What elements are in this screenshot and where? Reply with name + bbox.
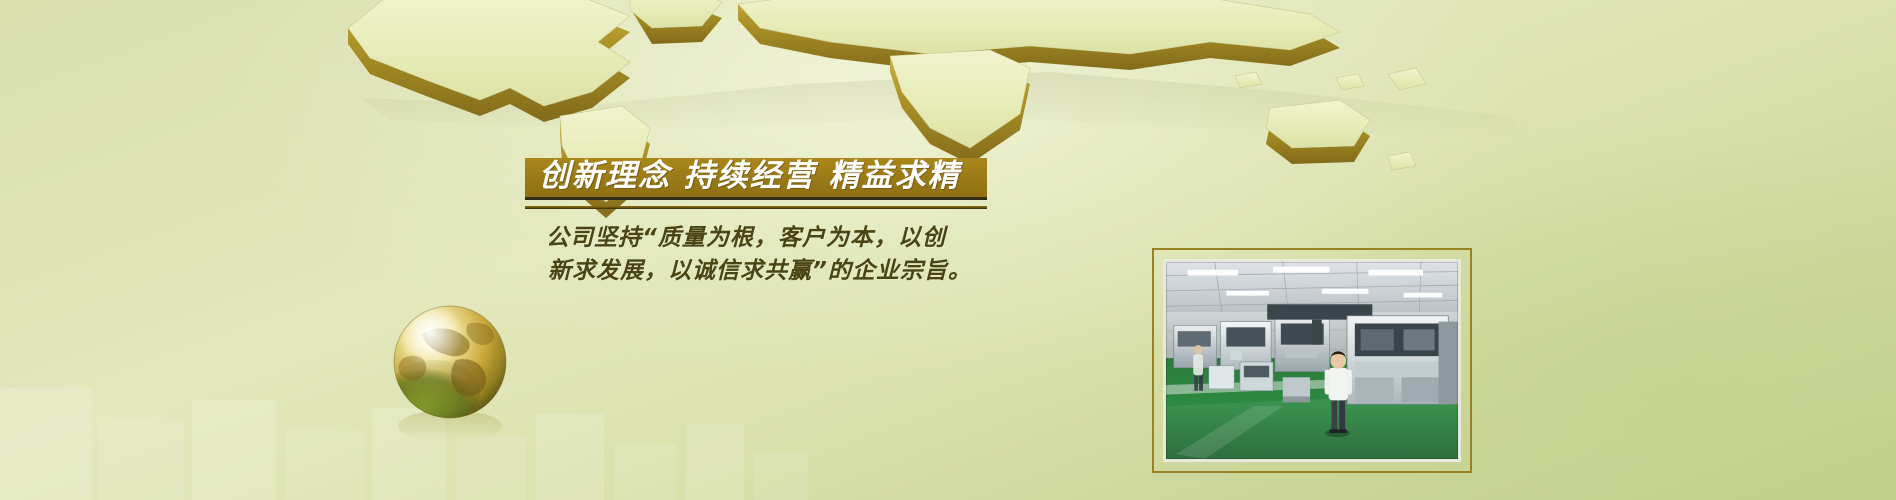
square-watermark <box>98 418 184 500</box>
photo-frame <box>1152 248 1472 473</box>
body-paragraph: 公司坚持“质量为根，客户为本，以创 新求发展，以诚信求共赢”的企业宗旨。 <box>546 222 966 287</box>
square-watermark <box>754 452 808 500</box>
square-watermark <box>286 430 364 500</box>
globe-graphic <box>382 300 530 448</box>
square-watermark <box>0 388 92 500</box>
worker-figure-2 <box>1193 345 1203 391</box>
corporate-banner: 创新理念 持续经营 精益求精 公司坚持“质量为根，客户为本，以创 新求发展，以诚… <box>0 0 1896 500</box>
factory-photo <box>1163 259 1461 462</box>
square-watermark <box>536 414 604 500</box>
headline-text: 创新理念 持续经营 精益求精 <box>539 161 973 192</box>
headline-rule-thin <box>525 206 987 209</box>
body-line-1: 公司坚持“质量为根，客户为本，以创 <box>546 222 966 255</box>
headline-bar: 创新理念 持续经营 精益求精 <box>525 158 987 197</box>
square-watermark <box>192 400 276 500</box>
headline-block: 创新理念 持续经营 精益求精 <box>525 158 987 209</box>
square-watermark <box>614 444 676 500</box>
globe-highlight <box>394 306 506 418</box>
body-line-2: 新求发展，以诚信求共赢”的企业宗旨。 <box>546 255 966 288</box>
square-watermark <box>686 424 744 500</box>
